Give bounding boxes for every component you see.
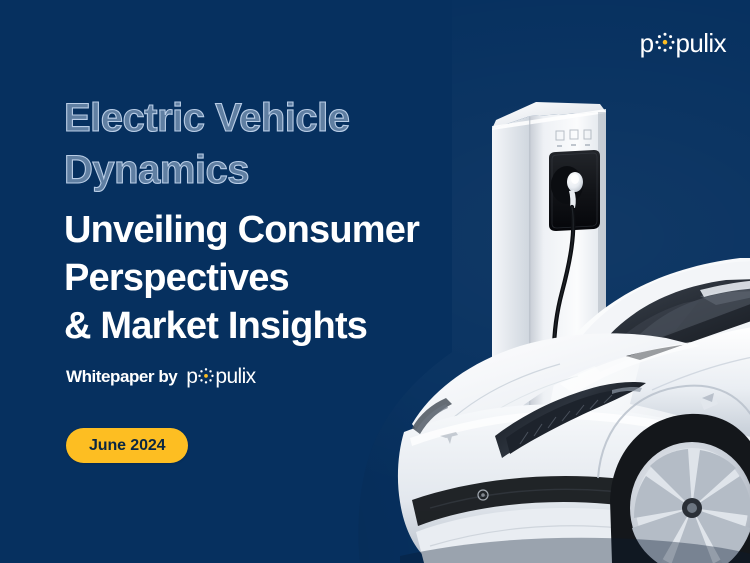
byline-label: Whitepaper by [66,368,177,385]
brand-logo-inline[interactable]: p pulix [186,366,255,387]
headline-block: Electric Vehicle Dynamics Unveiling Cons… [64,92,484,350]
tesla-emblem [440,432,458,444]
headlight [495,382,646,458]
whitepaper-cover: p pulix Electric Vehicle Dynamics Unveil… [0,0,750,563]
brand-logo-top-right[interactable]: p pulix [640,30,726,56]
ev-charging-station [492,102,606,486]
logo-suffix: pulix [215,366,255,387]
charger-indicator-icons [556,130,591,147]
byline: Whitepaper by p pulix [66,366,256,387]
logo-prefix: p [186,366,197,387]
logo-suffix: pulix [676,30,726,56]
page-title-solid: Unveiling Consumer Perspectives & Market… [64,206,484,350]
dotted-o-mark [197,366,215,387]
charging-connector [551,166,583,208]
alloy-wheel [630,442,750,563]
logo-prefix: p [640,30,654,56]
date-badge[interactable]: June 2024 [66,428,188,463]
dotted-o-mark [654,30,676,56]
page-title-outline: Electric Vehicle Dynamics [64,92,484,196]
charging-cable [548,207,573,466]
